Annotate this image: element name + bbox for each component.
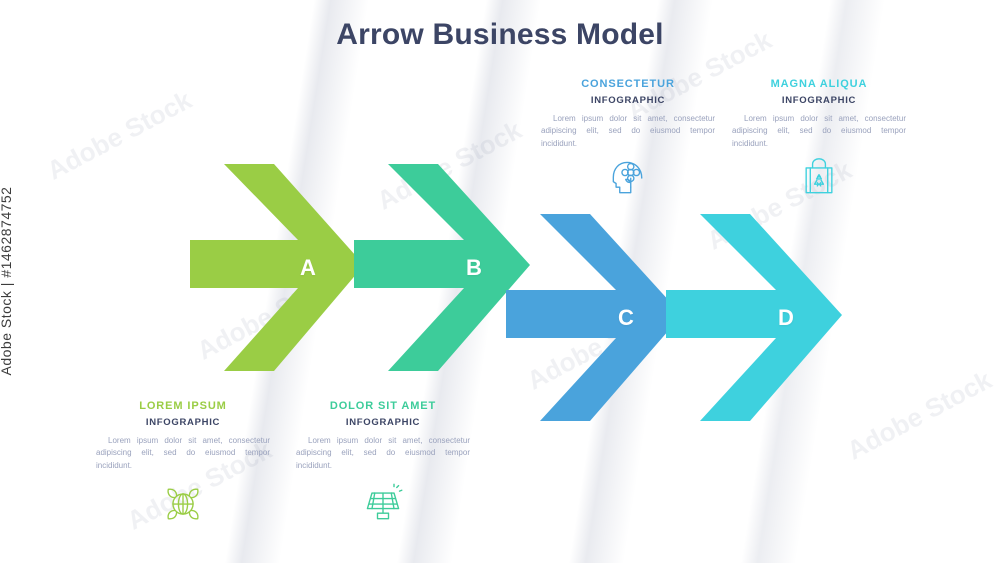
body-b: Lorem ipsum dolor sit amet, consectetur …: [288, 435, 478, 472]
globe-leaves-icon: [88, 482, 278, 526]
subheading-b: INFOGRAPHIC: [288, 417, 478, 428]
stock-id-watermark: Adobe Stock | #1462874752: [0, 187, 14, 376]
text-block-b: DOLOR SIT AMET INFOGRAPHIC Lorem ipsum d…: [288, 400, 478, 526]
recycle-bag-icon: [724, 156, 914, 200]
body-d: Lorem ipsum dolor sit amet, consectetur …: [724, 113, 914, 150]
infographic-canvas: Adobe Stock Adobe Stock Adobe Stock Adob…: [0, 0, 1000, 563]
text-block-a: LOREM IPSUM INFOGRAPHIC Lorem ipsum dolo…: [88, 400, 278, 526]
body-c: Lorem ipsum dolor sit amet, consectetur …: [533, 113, 723, 150]
heading-d: MAGNA ALIQUA: [724, 78, 914, 90]
arrow-shape-a: [188, 160, 378, 375]
arrow-label-b: B: [466, 255, 482, 281]
arrow-shape-d: [664, 210, 859, 425]
page-title: Arrow Business Model: [0, 18, 1000, 52]
head-flower-icon: [533, 156, 723, 200]
heading-c: CONSECTETUR: [533, 78, 723, 90]
text-block-d: MAGNA ALIQUA INFOGRAPHIC Lorem ipsum dol…: [724, 78, 914, 200]
text-block-c: CONSECTETUR INFOGRAPHIC Lorem ipsum dolo…: [533, 78, 723, 200]
solar-panel-icon: [288, 482, 478, 526]
heading-b: DOLOR SIT AMET: [288, 400, 478, 412]
heading-a: LOREM IPSUM: [88, 400, 278, 412]
arrow-label-d: D: [778, 305, 794, 331]
subheading-a: INFOGRAPHIC: [88, 417, 278, 428]
arrow-step-d[interactable]: D: [664, 210, 859, 425]
subheading-d: INFOGRAPHIC: [724, 95, 914, 106]
subheading-c: INFOGRAPHIC: [533, 95, 723, 106]
body-a: Lorem ipsum dolor sit amet, consectetur …: [88, 435, 278, 472]
arrow-step-a[interactable]: A: [188, 160, 378, 375]
watermark-tile: Adobe Stock: [42, 85, 197, 187]
arrow-label-c: C: [618, 305, 634, 331]
watermark-tile: Adobe Stock: [842, 365, 997, 467]
arrow-label-a: A: [300, 255, 316, 281]
